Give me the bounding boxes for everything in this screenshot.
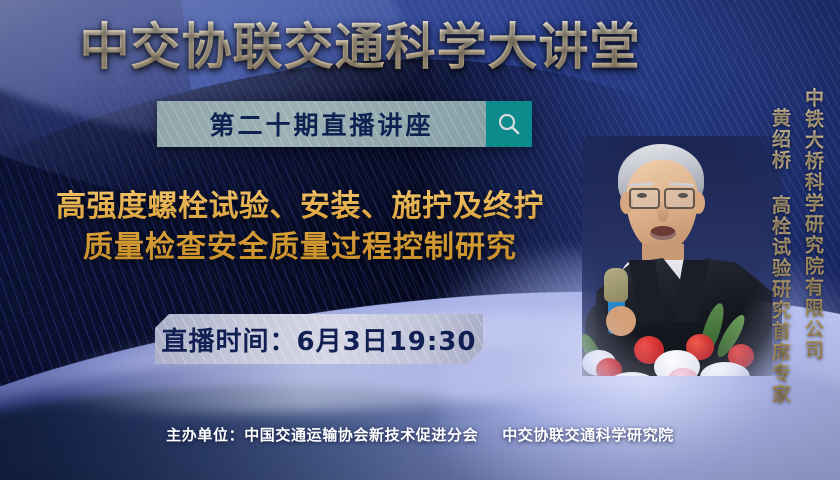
photo-mouth (650, 226, 676, 240)
episode-label: 第二十期直播讲座 (209, 106, 433, 142)
search-icon (496, 111, 522, 137)
page-title: 中交协联交通科学大讲堂 (0, 18, 720, 76)
photo-hand (606, 306, 636, 336)
microphone-head (604, 268, 628, 302)
photo-nose (657, 202, 669, 222)
search-button[interactable] (486, 101, 532, 147)
footer-org-2: 中交协联交通科学研究院 (502, 426, 674, 444)
speaker-name-role: 黄绍桥 高栓试验研究首席专家 (767, 108, 794, 405)
broadcast-time-badge: 直播时间：6月3日19:30 (155, 314, 483, 364)
search-input[interactable]: 第二十期直播讲座 (157, 101, 486, 147)
footer-organizers: 主办单位：中国交通运输协会新技术促进分会中交协联交通科学研究院 (0, 424, 840, 445)
lecture-title: 高强度螺栓试验、安装、施拧及终拧 质量检查安全质量过程控制研究 (0, 186, 600, 268)
footer-org-1: 中国交通运输协会新技术促进分会 (244, 426, 478, 444)
speaker-organization: 中铁大桥科学研究院有限公司 (800, 88, 827, 361)
speaker-photo (582, 136, 782, 376)
lecture-title-line-2: 质量检查安全质量过程控制研究 (0, 227, 600, 268)
episode-search-bar[interactable]: 第二十期直播讲座 (157, 101, 532, 147)
live-lecture-poster: 中交协联交通科学大讲堂 第二十期直播讲座 高强度螺栓试验、安装、施拧及终拧 质量… (0, 0, 840, 480)
broadcast-time-label: 直播时间：6月3日19:30 (162, 321, 477, 358)
lecture-title-line-1: 高强度螺栓试验、安装、施拧及终拧 (0, 186, 600, 227)
footer-prefix: 主办单位： (166, 426, 244, 444)
